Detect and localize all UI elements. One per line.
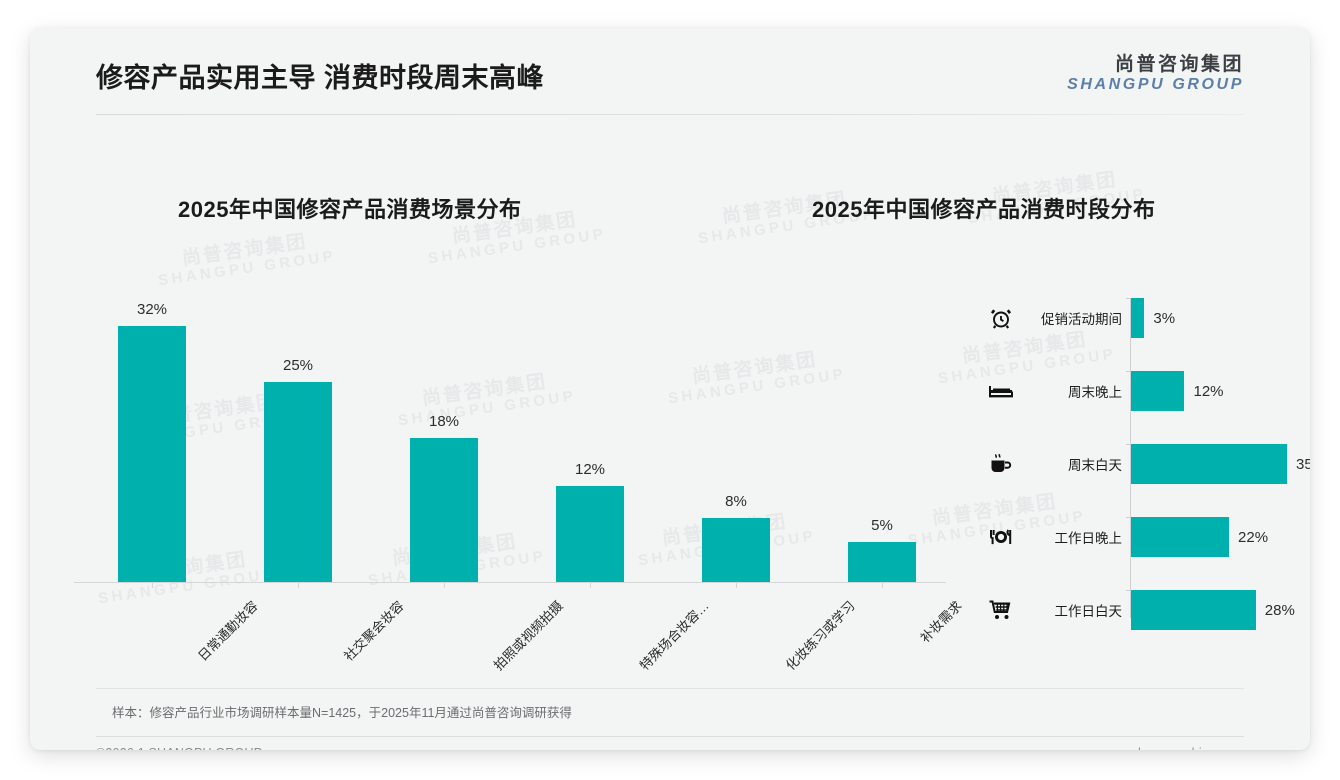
brand-logo-en: SHANGPU GROUP (1067, 76, 1244, 95)
y-axis-tick (1126, 371, 1131, 372)
bar-rect[interactable] (1131, 371, 1184, 411)
x-axis-label: 化妆练习或学习 (781, 596, 859, 674)
slide-card: 尚普咨询集团 SHANGPU GROUP 尚普咨询集团 SHANGPU GROU… (30, 28, 1310, 750)
y-axis-tick (1126, 298, 1131, 299)
timeslot-distribution-bar-chart: 促销活动期间 3% 周末晚上 12% (938, 260, 1310, 680)
sample-note: 样本：修容产品行业市场调研样本量N=1425，于2025年11月通过尚普咨询调研… (112, 702, 572, 721)
x-axis-tick (736, 583, 737, 588)
y-axis-tick (1126, 517, 1131, 518)
bar-value-label: 8% (676, 493, 796, 510)
bar-rect[interactable] (848, 542, 916, 582)
x-axis-line (74, 582, 946, 583)
x-axis-tick (152, 583, 153, 588)
note-divider-top (96, 688, 1244, 689)
bar-value-label: 18% (384, 413, 504, 430)
x-axis-tick (444, 583, 445, 588)
brand-logo: 尚普咨询集团 SHANGPU GROUP (1067, 54, 1244, 95)
bar-value-label: 28% (1265, 602, 1295, 619)
bar-row-label: 促销活动期间 (1026, 308, 1122, 328)
y-axis-tick (1126, 590, 1131, 591)
x-axis-label: 日常通勤妆容 (193, 596, 262, 665)
bar-rect[interactable] (702, 518, 770, 582)
bar-value-label: 5% (822, 517, 942, 534)
bar-row[interactable]: 周末白天 35% (938, 444, 1310, 484)
coffee-cup-icon (986, 449, 1016, 479)
x-axis-tick (590, 583, 591, 588)
bar-column[interactable]: 32% (92, 301, 212, 582)
shopping-cart-icon (986, 595, 1016, 625)
bar-rect[interactable] (1131, 590, 1256, 630)
bar-column[interactable]: 8% (676, 493, 796, 582)
bar-value-label: 22% (1238, 529, 1268, 546)
bar-value-label: 32% (92, 301, 212, 318)
bar-column[interactable]: 5% (822, 517, 942, 582)
bar-rect[interactable] (1131, 444, 1287, 484)
charts-region: 2025年中国修容产品消费场景分布 2025年中国修容产品消费时段分布 32% … (30, 120, 1310, 680)
copyright-text: ©2026.1 SHANGPU GROUP (96, 746, 262, 750)
x-axis-tick (882, 583, 883, 588)
bar-value-label: 3% (1153, 310, 1175, 327)
bar-row[interactable]: 周末晚上 12% (938, 371, 1310, 411)
bar-rect[interactable] (118, 326, 186, 582)
bar-rect[interactable] (410, 438, 478, 582)
brand-logo-cn: 尚普咨询集团 (1067, 54, 1244, 76)
alarm-clock-icon (986, 303, 1016, 333)
bar-value-label: 25% (238, 357, 358, 374)
page-title: 修容产品实用主导 消费时段周末高峰 (96, 56, 544, 95)
bar-row-label: 周末晚上 (1026, 381, 1122, 401)
scene-distribution-bar-chart: 32% 25% 18% 12% 8% 5% (48, 260, 938, 680)
y-axis-tick (1126, 444, 1131, 445)
bar-rect[interactable] (1131, 298, 1144, 338)
x-axis-label: 社交聚会妆容 (339, 596, 408, 665)
bar-rect[interactable] (264, 382, 332, 582)
chart-title-timeslot: 2025年中国修容产品消费时段分布 (812, 192, 1155, 224)
bar-row-label: 工作日白天 (1026, 600, 1122, 620)
bar-column[interactable]: 25% (238, 357, 358, 582)
x-axis-label: 特殊场合妆容… (635, 596, 713, 674)
header-divider (96, 114, 1244, 115)
bar-row-label: 周末白天 (1026, 454, 1122, 474)
slide-header: 修容产品实用主导 消费时段周末高峰 尚普咨询集团 SHANGPU GROUP (30, 28, 1310, 120)
cutlery-icon (986, 522, 1016, 552)
bar-column[interactable]: 18% (384, 413, 504, 582)
bar-row[interactable]: 促销活动期间 3% (938, 298, 1310, 338)
x-axis-label: 拍照或视频拍摄 (489, 596, 567, 674)
footer-divider (96, 736, 1244, 737)
bar-row-label: 工作日晚上 (1026, 527, 1122, 547)
bar-row[interactable]: 工作日白天 28% (938, 590, 1310, 630)
bed-icon (986, 376, 1016, 406)
bar-value-label: 12% (530, 461, 650, 478)
website-link[interactable]: www.shangpu-china.com (1101, 746, 1244, 750)
bar-value-label: 35% (1296, 456, 1310, 473)
chart-title-scene: 2025年中国修容产品消费场景分布 (178, 192, 521, 224)
bar-rect[interactable] (1131, 517, 1229, 557)
bar-value-label: 12% (1193, 383, 1223, 400)
bar-column[interactable]: 12% (530, 461, 650, 582)
bar-row[interactable]: 工作日晚上 22% (938, 517, 1310, 557)
bar-rect[interactable] (556, 486, 624, 582)
x-axis-tick (298, 583, 299, 588)
